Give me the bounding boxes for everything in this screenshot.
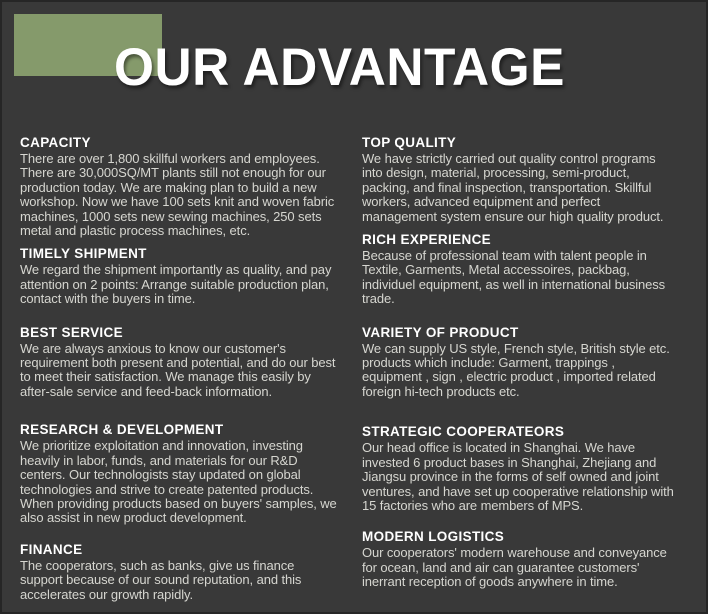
section-body: The cooperators, such as banks, give us …	[20, 559, 340, 602]
section-heading: VARIETY OF PRODUCT	[362, 324, 678, 341]
section-variety-of-product: VARIETY OF PRODUCT We can supply US styl…	[362, 324, 678, 400]
advantage-poster: OUR ADVANTAGE CAPACITY There are over 1,…	[0, 0, 708, 614]
section-body: There are over 1,800 skillful workers an…	[20, 152, 340, 238]
section-strategic-cooperateors: STRATEGIC COOPERATEORS Our head office i…	[362, 423, 678, 513]
section-heading: BEST SERVICE	[20, 324, 340, 341]
section-heading: FINANCE	[20, 541, 340, 558]
poster-header: OUR ADVANTAGE	[2, 2, 706, 120]
section-heading: RICH EXPERIENCE	[362, 231, 678, 248]
section-research-development: RESEARCH & DEVELOPMENT We prioritize exp…	[20, 421, 340, 525]
section-heading: STRATEGIC COOPERATEORS	[362, 423, 678, 440]
section-heading: TIMELY SHIPMENT	[20, 245, 340, 262]
right-column: TOP QUALITY We have strictly carried out…	[358, 134, 696, 612]
section-timely-shipment: TIMELY SHIPMENT We regard the shipment i…	[20, 245, 340, 306]
section-body: We are always anxious to know our custom…	[20, 342, 340, 400]
section-heading: MODERN LOGISTICS	[362, 528, 678, 545]
content-columns: CAPACITY There are over 1,800 skillful w…	[2, 134, 706, 612]
section-body: We regard the shipment importantly as qu…	[20, 263, 340, 306]
section-heading: RESEARCH & DEVELOPMENT	[20, 421, 340, 438]
section-body: Our cooperators' modern warehouse and co…	[362, 546, 678, 589]
section-capacity: CAPACITY There are over 1,800 skillful w…	[20, 134, 340, 238]
section-top-quality: TOP QUALITY We have strictly carried out…	[362, 134, 678, 224]
section-finance: FINANCE The cooperators, such as banks, …	[20, 541, 340, 602]
page-title: OUR ADVANTAGE	[114, 40, 565, 96]
section-best-service: BEST SERVICE We are always anxious to kn…	[20, 324, 340, 400]
section-body: We can supply US style, French style, Br…	[362, 342, 678, 400]
section-body: We prioritize exploitation and innovatio…	[20, 439, 340, 525]
section-rich-experience: RICH EXPERIENCE Because of professional …	[362, 231, 678, 307]
left-column: CAPACITY There are over 1,800 skillful w…	[20, 134, 358, 612]
section-modern-logistics: MODERN LOGISTICS Our cooperators' modern…	[362, 528, 678, 589]
section-body: Our head office is located in Shanghai. …	[362, 441, 678, 513]
section-heading: CAPACITY	[20, 134, 340, 151]
section-body: Because of professional team with talent…	[362, 249, 678, 307]
section-heading: TOP QUALITY	[362, 134, 678, 151]
section-body: We have strictly carried out quality con…	[362, 152, 678, 224]
